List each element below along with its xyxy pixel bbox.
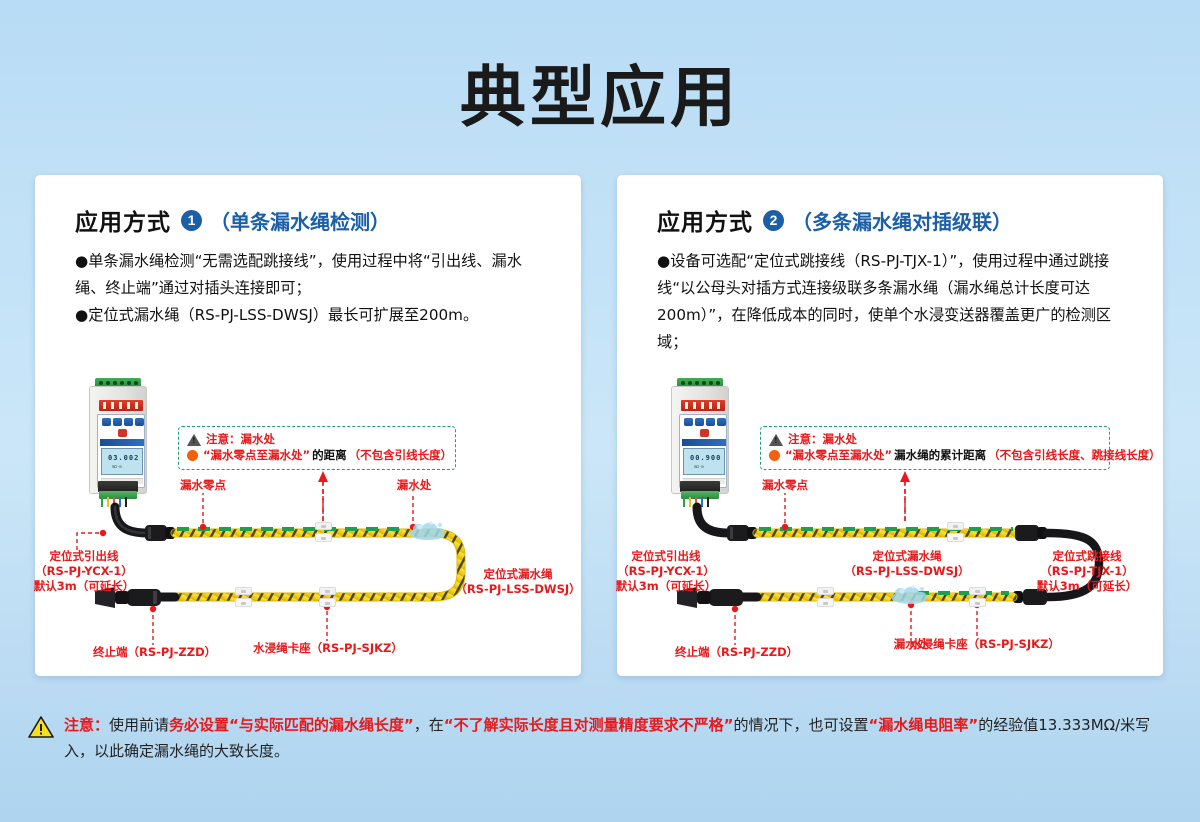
warning-triangle-icon — [187, 434, 201, 446]
bottom-note-text: 注意：使用前请务必设置“与实际匹配的漏水绳长度”，在“不了解实际长度且对测量精度… — [64, 712, 1178, 765]
card2-warning-black: 漏水绳的累计距离 — [894, 448, 986, 464]
card2-label-jumper: 定位式跳接线 （RS-PJ-TJX-1） 默认3m（可延长） — [1017, 549, 1157, 595]
card1-label-leak-point: 漏水处 — [382, 478, 446, 493]
orange-dot-icon — [769, 450, 780, 461]
card2-clip-2 — [817, 587, 834, 607]
note-seg5: 的情况下，也可设置 — [733, 716, 868, 734]
orange-dot-icon — [187, 450, 198, 461]
card2-warning-line1: 注意：漏水处 — [769, 432, 1101, 448]
card1-label-clip: 水浸绳卡座（RS-PJ-SJKZ） — [250, 641, 406, 656]
card2-warning-quote: “漏水零点至漏水处” — [785, 448, 892, 464]
warning-triangle-icon — [769, 434, 783, 446]
card2-label-clip: 水浸绳卡座（RS-PJ-SJKZ） — [907, 637, 1063, 652]
application-card-1: 应用方式 1 （单条漏水绳检测） ●单条漏水绳检测“无需选配跳接线”，使用过程中… — [35, 175, 581, 676]
card1-clip-3 — [319, 587, 336, 607]
card2-label-zero-point: 漏水零点 — [753, 478, 817, 493]
card1-water-splash — [407, 519, 453, 545]
card1-warning-quote: “漏水零点至漏水处” — [203, 448, 310, 464]
note-seg1: 使用前请 — [109, 716, 169, 734]
bottom-warning-note: 注意：使用前请务必设置“与实际匹配的漏水绳长度”，在“不了解实际长度且对测量精度… — [28, 712, 1178, 765]
card2-diagram: 00.900 mΩ·m — [617, 175, 1163, 676]
card1-clip-2 — [235, 587, 252, 607]
page-title: 典型应用 — [0, 44, 1200, 140]
card2-clip-3 — [969, 587, 986, 607]
card1-label-rope: 定位式漏水绳 （RS-PJ-LSS-DWSJ） — [455, 567, 581, 597]
card2-warning-line1-text: 注意：漏水处 — [788, 432, 857, 448]
card2-water-splash — [889, 583, 935, 609]
card2-warning-box: 注意：漏水处 “漏水零点至漏水处” 漏水绳的累计距离 （不包含引线长度、跳接线长… — [760, 426, 1110, 470]
application-card-2: 应用方式 2 （多条漏水绳对插级联） ●设备可选配“定位式跳接线（RS-PJ-T… — [617, 175, 1163, 676]
card1-warning-box: 注意：漏水处 “漏水零点至漏水处” 的距离 （不包含引线长度） — [178, 426, 456, 470]
card1-label-terminator: 终止端（RS-PJ-ZZD） — [93, 645, 213, 660]
note-prefix: 注意： — [64, 716, 109, 734]
note-seg4: “不了解实际长度且对测量精度要求不严格” — [444, 716, 734, 734]
card1-label-zero-point: 漏水零点 — [171, 478, 235, 493]
card1-warning-line1: 注意：漏水处 — [187, 432, 447, 448]
card1-warning-line1-text: 注意：漏水处 — [206, 432, 275, 448]
card2-label-rope: 定位式漏水绳 （RS-PJ-LSS-DWSJ） — [817, 549, 997, 579]
card1-warning-black: 的距离 — [312, 448, 347, 464]
card1-warning-line2: “漏水零点至漏水处” 的距离 （不包含引线长度） — [187, 448, 447, 464]
card2-clip-1 — [947, 522, 964, 542]
warning-triangle-icon — [28, 716, 54, 739]
card2-warning-line2: “漏水零点至漏水处” 漏水绳的累计距离 （不包含引线长度、跳接线长度） — [769, 448, 1101, 464]
card1-warning-paren: （不包含引线长度） — [349, 448, 453, 464]
card2-label-terminator: 终止端（RS-PJ-ZZD） — [675, 645, 795, 660]
note-seg3: ，在 — [414, 716, 444, 734]
note-seg2: 务必设置“与实际匹配的漏水绳长度” — [169, 716, 414, 734]
card1-clip-1 — [315, 522, 332, 542]
note-seg6: “漏水绳电阻率” — [869, 716, 979, 734]
card2-warning-paren: （不包含引线长度、跳接线长度） — [988, 448, 1161, 464]
card2-label-lead-wire: 定位式引出线 （RS-PJ-YCX-1） 默认3m（可延长） — [611, 549, 721, 595]
card1-label-lead-wire: 定位式引出线 （RS-PJ-YCX-1） 默认3m（可延长） — [29, 549, 139, 595]
card1-diagram: 03.002 mΩ·m — [35, 175, 581, 676]
